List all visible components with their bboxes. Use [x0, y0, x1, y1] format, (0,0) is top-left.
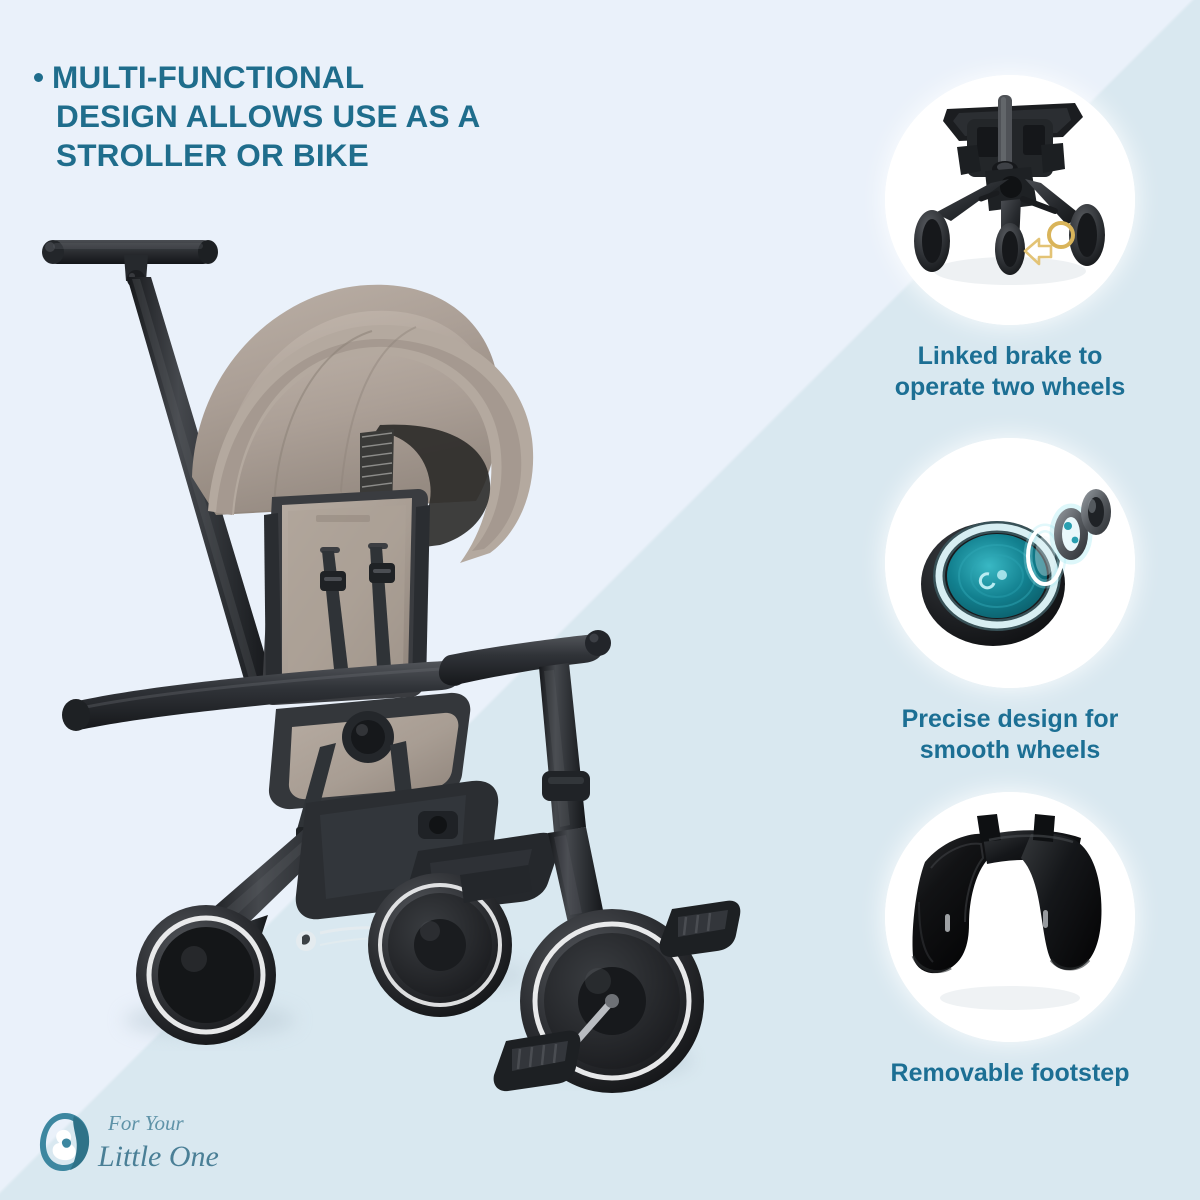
feature-image-removable-footstep: [885, 792, 1135, 1042]
product-image-stroller: [20, 215, 760, 1115]
feature-image-linked-brake: [885, 75, 1135, 325]
feature-linked-brake: Linked brake to operate two wheels: [855, 75, 1165, 403]
feature-caption-smooth-wheels: Precise design for smooth wheels: [855, 704, 1165, 766]
brand-logo: For Your Little One: [34, 1104, 254, 1182]
caption-line-2: operate two wheels: [855, 372, 1165, 403]
headline-line-1: MULTI-FUNCTIONAL: [52, 59, 364, 95]
page-title: MULTI-FUNCTIONAL DESIGN ALLOWS USE AS A …: [34, 58, 594, 175]
wheel-rear-outer: [136, 905, 276, 1045]
headline-line-3: STROLLER OR BIKE: [34, 136, 594, 175]
headline-line-2: DESIGN ALLOWS USE AS A: [34, 97, 594, 136]
mother-and-child-icon: [34, 1110, 96, 1174]
caption-line-2: smooth wheels: [855, 735, 1165, 766]
caption-line-1: Linked brake to: [855, 341, 1165, 372]
feature-smooth-wheels: Precise design for smooth wheels: [855, 438, 1165, 766]
feature-image-smooth-wheels: [885, 438, 1135, 688]
bullet-icon: [34, 73, 43, 82]
logo-line-1: For Your: [107, 1111, 185, 1135]
brand-wordmark: For Your Little One: [96, 1104, 256, 1180]
marketing-image-canvas: MULTI-FUNCTIONAL DESIGN ALLOWS USE AS A …: [0, 0, 1200, 1200]
logo-line-2: Little One: [97, 1140, 219, 1173]
pedal-left: [494, 1031, 581, 1091]
feature-caption-removable-footstep: Removable footstep: [855, 1058, 1165, 1089]
caption-line-1: Precise design for: [855, 704, 1165, 735]
feature-removable-footstep: Removable footstep: [855, 792, 1165, 1089]
pedal-right: [660, 901, 741, 957]
feature-caption-linked-brake: Linked brake to operate two wheels: [855, 341, 1165, 403]
caption-line-1: Removable footstep: [855, 1058, 1165, 1089]
